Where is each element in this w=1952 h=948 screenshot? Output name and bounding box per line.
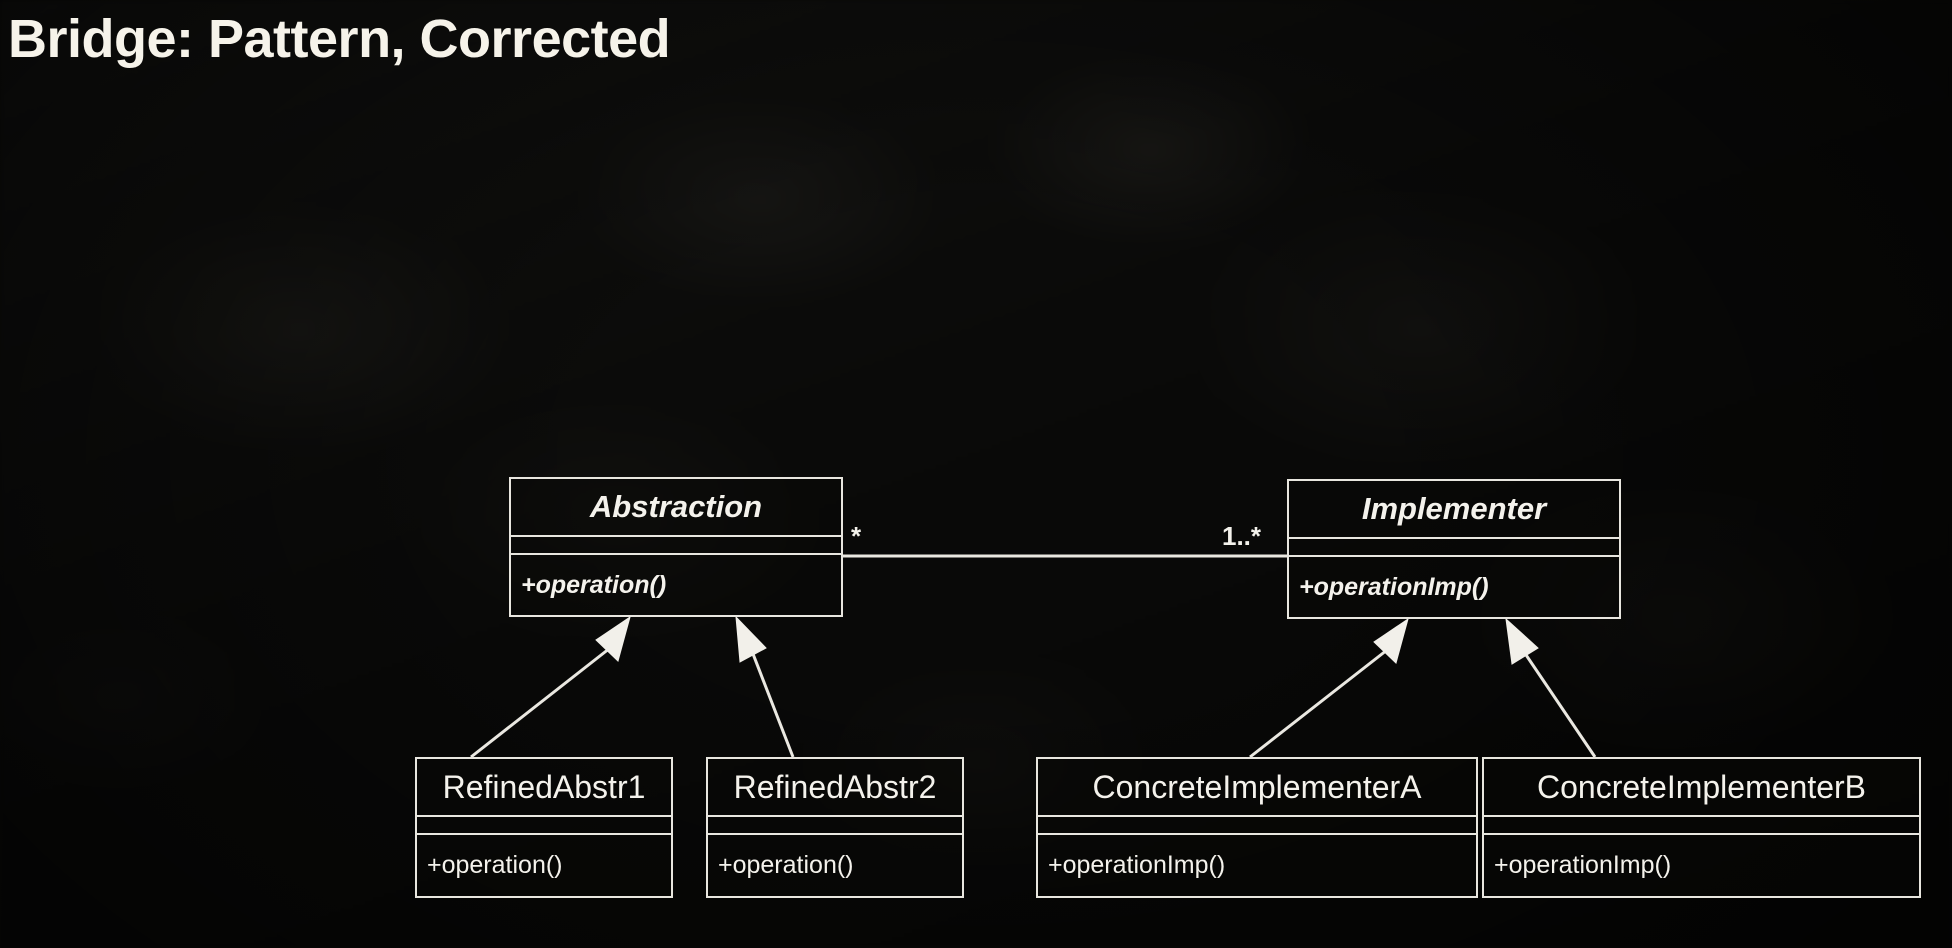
uml-operations-compartment: +operation() — [708, 833, 962, 896]
uml-operation-item: +operationImp() — [1289, 573, 1489, 602]
uml-class-concreteimplementerb[interactable]: ConcreteImplementerB +operationImp() — [1482, 757, 1921, 898]
uml-attributes-compartment — [1289, 537, 1619, 555]
uml-class-name: Abstraction — [511, 479, 841, 535]
uml-class-name: RefinedAbstr2 — [708, 759, 962, 815]
uml-attributes-compartment — [708, 815, 962, 833]
uml-class-diagram: Abstraction +operation() Implementer +op… — [0, 0, 1952, 948]
generalization-line-refined2 — [748, 641, 793, 757]
association-target-multiplicity: 1..* — [1222, 521, 1261, 552]
uml-operations-compartment: +operationImp() — [1038, 833, 1476, 896]
uml-operation-item: +operation() — [708, 851, 854, 880]
uml-class-name: Implementer — [1289, 481, 1619, 537]
inheritance-arrowhead-concreteB — [1506, 619, 1538, 664]
uml-operations-compartment: +operationImp() — [1289, 555, 1619, 617]
uml-class-concreteimplementera[interactable]: ConcreteImplementerA +operationImp() — [1036, 757, 1478, 898]
uml-class-name: ConcreteImplementerA — [1038, 759, 1476, 815]
uml-class-refinedabstr2[interactable]: RefinedAbstr2 +operation() — [706, 757, 964, 898]
generalization-line-concreteA — [1250, 643, 1396, 757]
generalization-line-concreteB — [1518, 643, 1595, 757]
uml-operation-item: +operationImp() — [1484, 851, 1671, 880]
uml-operation-item: +operation() — [511, 571, 666, 600]
association-source-multiplicity: * — [851, 521, 861, 552]
uml-operation-item: +operationImp() — [1038, 851, 1225, 880]
uml-class-implementer[interactable]: Implementer +operationImp() — [1287, 479, 1621, 619]
generalization-line-refined1 — [471, 641, 619, 757]
uml-class-name: ConcreteImplementerB — [1484, 759, 1919, 815]
uml-operations-compartment: +operationImp() — [1484, 833, 1919, 896]
uml-class-refinedabstr1[interactable]: RefinedAbstr1 +operation() — [415, 757, 673, 898]
uml-attributes-compartment — [1484, 815, 1919, 833]
uml-operations-compartment: +operation() — [417, 833, 671, 896]
uml-class-name: RefinedAbstr1 — [417, 759, 671, 815]
inheritance-arrowhead-refined2 — [736, 617, 766, 662]
uml-attributes-compartment — [511, 535, 841, 553]
uml-class-abstraction[interactable]: Abstraction +operation() — [509, 477, 843, 617]
slide-canvas: Bridge: Pattern, Corrected Abstraction — [0, 0, 1952, 948]
uml-attributes-compartment — [417, 815, 671, 833]
uml-operations-compartment: +operation() — [511, 553, 841, 615]
uml-operation-item: +operation() — [417, 851, 563, 880]
uml-attributes-compartment — [1038, 815, 1476, 833]
